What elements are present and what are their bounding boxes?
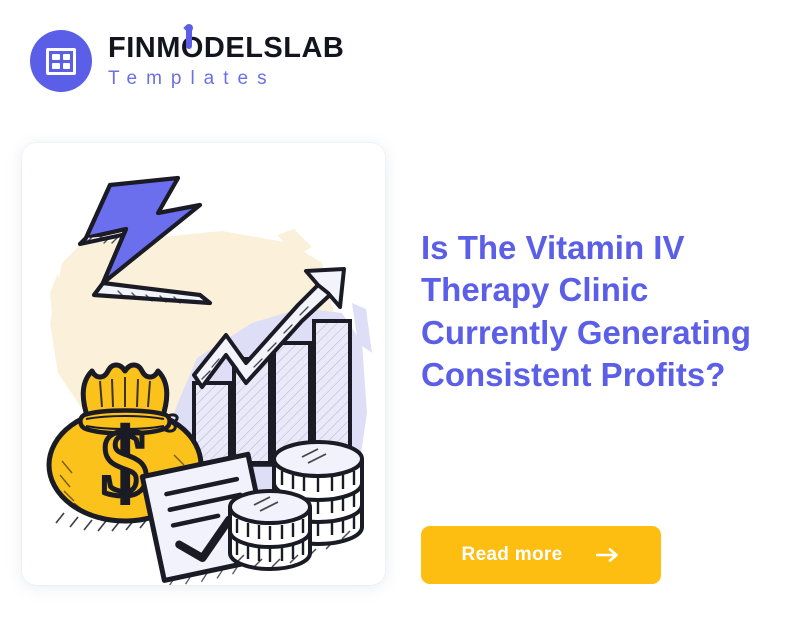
brand-header[interactable]: FINMODELSLAB Templates [30, 30, 344, 92]
location-pin-icon [186, 27, 192, 49]
read-more-label: Read more [462, 544, 563, 566]
illustration-card: $ [22, 143, 385, 585]
brand-subwordmark: Templates [108, 69, 344, 88]
money-bag-dollar-symbol: $ [101, 409, 149, 516]
grid-squares-icon [46, 48, 76, 75]
grid-cell [52, 54, 60, 60]
grid-cell [63, 54, 71, 60]
logo-mark [30, 30, 92, 92]
grid-cell [63, 63, 71, 69]
page-title: Is The Vitamin IV Therapy Clinic Current… [421, 227, 781, 396]
finance-growth-illustration: $ [22, 143, 385, 585]
read-more-button[interactable]: Read more [421, 526, 661, 584]
brand-wordmark-label: FINMODELSLAB [108, 32, 344, 64]
arrow-right-icon [596, 548, 620, 562]
grid-cell [52, 63, 60, 69]
brand-text: FINMODELSLAB Templates [108, 34, 344, 88]
brand-wordmark: FINMODELSLAB [108, 34, 344, 63]
